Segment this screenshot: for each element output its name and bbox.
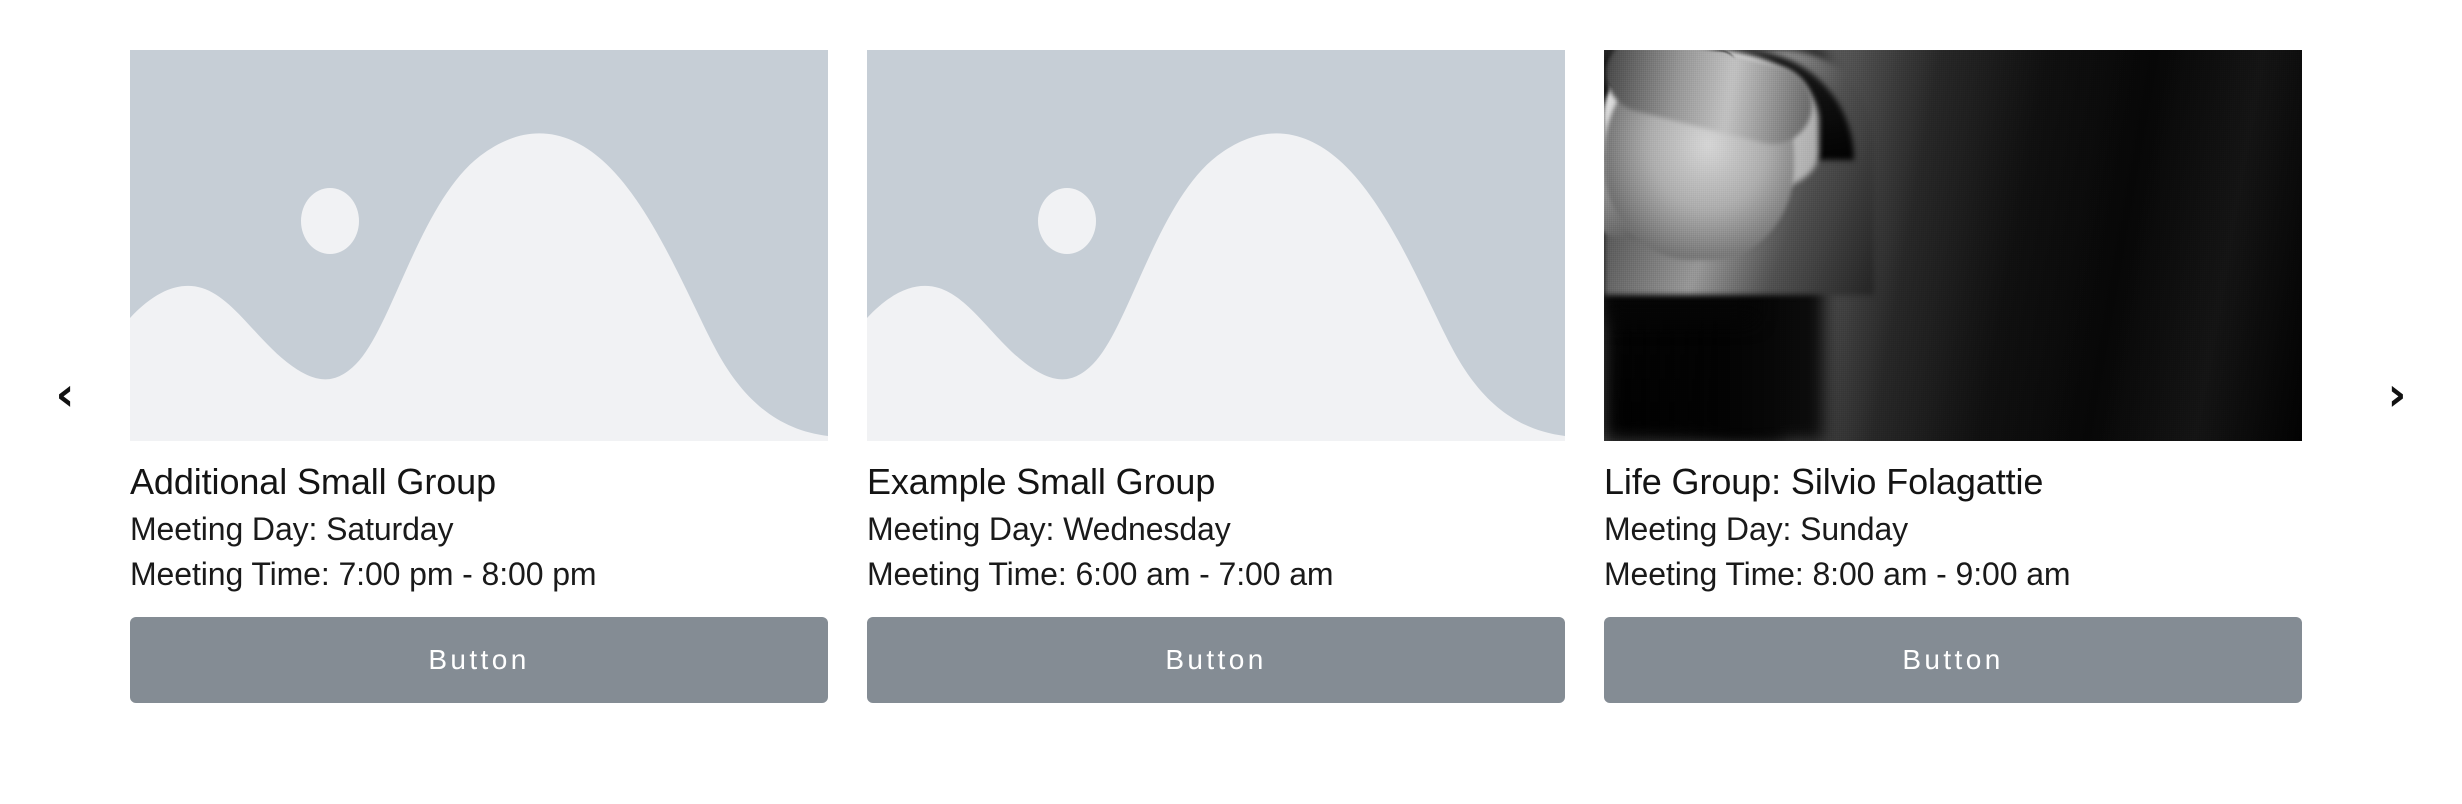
card-meeting-time: Meeting Time: 8:00 am - 9:00 am [1604,548,2302,593]
card-meeting-day: Meeting Day: Sunday [1604,503,2302,548]
card-body: Example Small Group Meeting Day: Wednesd… [867,441,1565,703]
card-action-button[interactable]: Button [867,617,1565,703]
chevron-right-icon: › [2388,371,2407,417]
card-title: Life Group: Silvio Folagattie [1604,441,2302,503]
landscape-placeholder-icon [867,50,1565,441]
card-meeting-time: Meeting Time: 6:00 am - 7:00 am [867,548,1565,593]
card-body: Life Group: Silvio Folagattie Meeting Da… [1604,441,2302,703]
carousel-track: Additional Small Group Meeting Day: Satu… [130,0,2302,804]
card-image-placeholder [130,50,828,441]
landscape-placeholder-icon [130,50,828,441]
card-meeting-day: Meeting Day: Wednesday [867,503,1565,548]
card-meeting-time: Meeting Time: 7:00 pm - 8:00 pm [130,548,828,593]
chevron-left-icon: ‹ [56,371,75,417]
carousel-prev-button[interactable]: ‹ [0,0,130,804]
card-action-button[interactable]: Button [130,617,828,703]
carousel-next-button[interactable]: › [2332,0,2462,804]
card-title: Additional Small Group [130,441,828,503]
elderly-women-photograph [1604,50,2302,441]
card-image-placeholder [867,50,1565,441]
card-meeting-day: Meeting Day: Saturday [130,503,828,548]
card-photo [1604,50,2302,441]
small-groups-carousel: ‹ Additional Small Group Meeting Day: Sa… [0,0,2462,804]
group-card: Example Small Group Meeting Day: Wednesd… [867,0,1565,703]
card-action-button[interactable]: Button [1604,617,2302,703]
group-card: Additional Small Group Meeting Day: Satu… [130,0,828,703]
group-card: Life Group: Silvio Folagattie Meeting Da… [1604,0,2302,703]
card-title: Example Small Group [867,441,1565,503]
card-body: Additional Small Group Meeting Day: Satu… [130,441,828,703]
